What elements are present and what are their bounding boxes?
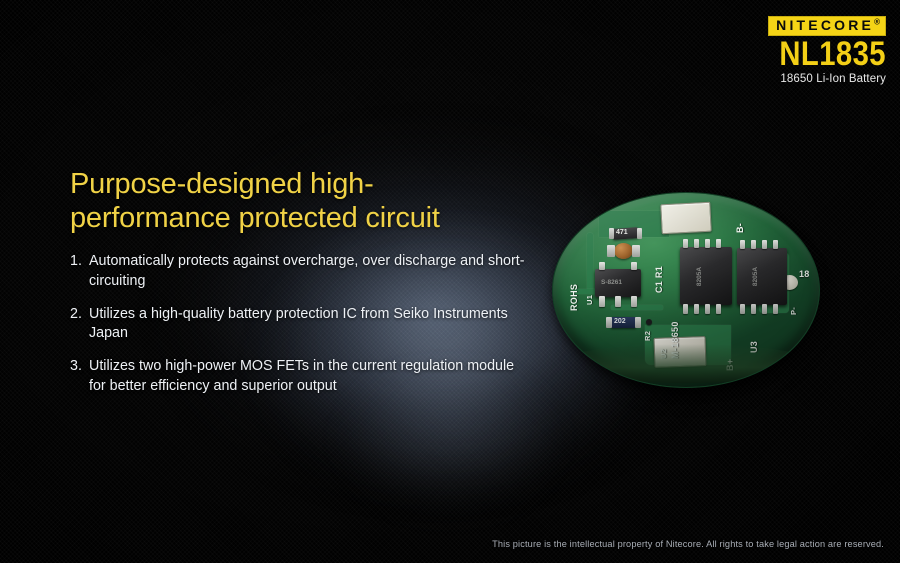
pcb-disc: 8205A 8205A S-8261 — [552, 192, 820, 388]
list-item-number: 1. — [70, 252, 89, 291]
nitecore-logo-text: NITECORE — [776, 17, 874, 33]
list-item-number: 3. — [70, 357, 89, 396]
list-item-number: 2. — [70, 305, 89, 344]
product-subtitle: 18650 Li-Ion Battery — [762, 73, 886, 85]
feature-list: 1. Automatically protects against overch… — [70, 252, 530, 396]
content-block: Purpose-designed high- performance prote… — [70, 168, 530, 410]
page-title: Purpose-designed high- performance prote… — [70, 168, 530, 235]
headline-line-2: performance protected circuit — [70, 202, 530, 236]
copyright-disclaimer: This picture is the intellectual propert… — [492, 539, 884, 549]
product-model: NL1835 — [779, 38, 886, 71]
list-item-label: Automatically protects against overcharg… — [89, 252, 530, 291]
nitecore-logo: NITECORE® — [768, 16, 886, 36]
list-item-label: Utilizes two high-power MOS FETs in the … — [89, 357, 530, 396]
brand-block: NITECORE® NL1835 18650 Li-Ion Battery — [762, 16, 886, 85]
list-item: 3. Utilizes two high-power MOS FETs in t… — [70, 357, 530, 396]
registered-trademark-icon: ® — [874, 17, 880, 26]
board-edge-shading — [558, 344, 813, 383]
product-slide: NITECORE® NL1835 18650 Li-Ion Battery Pu… — [0, 0, 900, 563]
list-item-label: Utilizes a high-quality battery protecti… — [89, 305, 530, 344]
list-item: 2. Utilizes a high-quality battery prote… — [70, 305, 530, 344]
list-item: 1. Automatically protects against overch… — [70, 252, 530, 291]
circuit-board-photo: 8205A 8205A S-8261 — [548, 186, 828, 396]
headline-line-1: Purpose-designed high- — [70, 168, 530, 202]
